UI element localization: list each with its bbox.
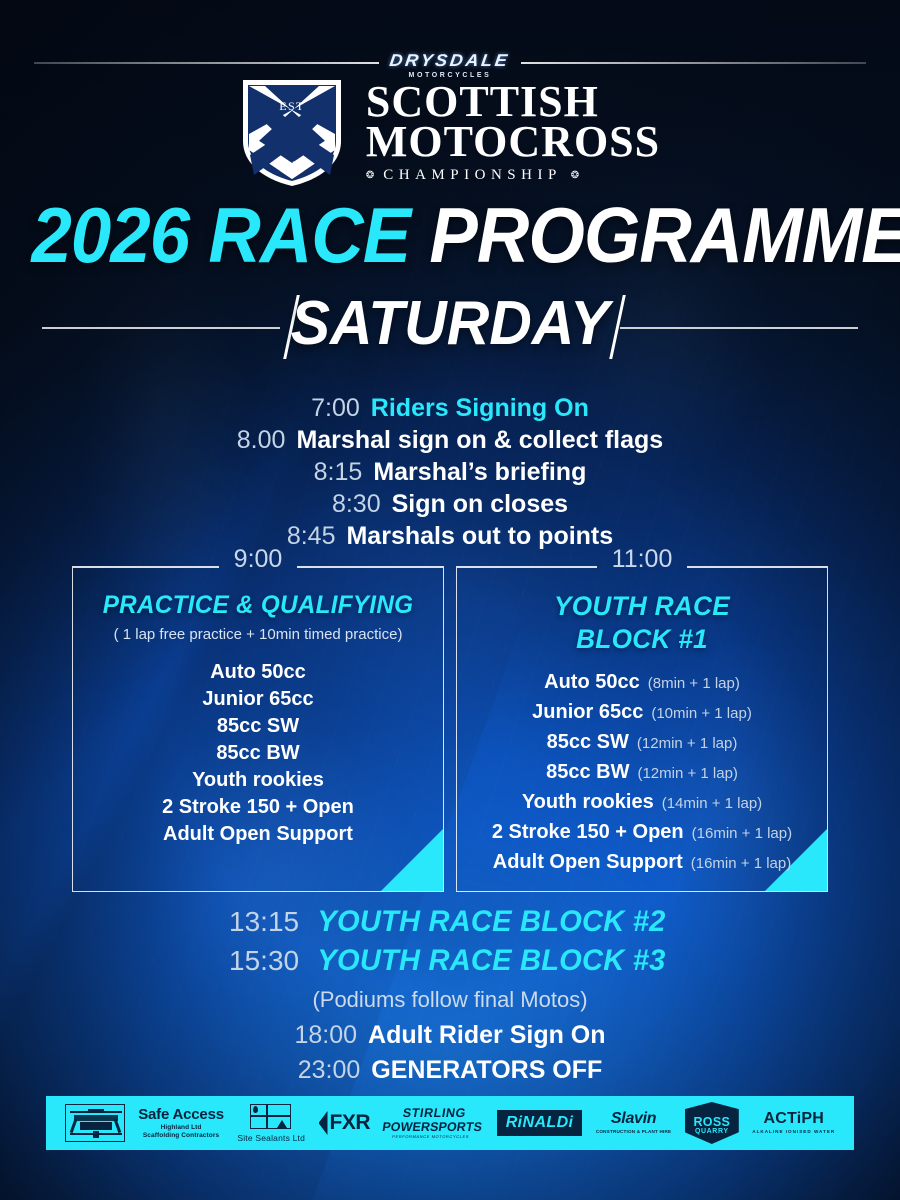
class-list-right: Auto 50cc (8min + 1 lap) Junior 65cc (10… bbox=[468, 668, 816, 878]
schedule-label: Riders Signing On bbox=[371, 392, 589, 424]
morning-schedule-list: 7:00 Riders Signing On 8.00 Marshal sign… bbox=[0, 392, 900, 552]
sponsor-rinaldi-logo: RiNALDi bbox=[497, 1110, 583, 1136]
class-name: 85cc SW bbox=[217, 713, 299, 740]
actiph-name: ACTiPH bbox=[752, 1111, 835, 1127]
header-rule-left bbox=[34, 62, 379, 64]
schedule-row: 8:15 Marshal’s briefing bbox=[0, 456, 900, 488]
class-name: Adult Open Support bbox=[163, 821, 353, 848]
practice-qualifying-panel: 9:00 PRACTICE & QUALIFYING ( 1 lap free … bbox=[72, 566, 444, 892]
sponsor-site-sealants-logo: Site Sealants Ltd bbox=[237, 1104, 305, 1143]
class-name: Youth rookies bbox=[192, 767, 324, 794]
sponsor-highland-badge-logo bbox=[65, 1104, 125, 1142]
wordmark-line-motocross: MOTOCROSS bbox=[366, 122, 660, 162]
championship-brand-lockup: EST 1955 SCOTTISH MOTOCROSS ❂ CHAMPIONSH… bbox=[0, 78, 900, 188]
evening-label: GENERATORS OFF bbox=[371, 1053, 602, 1088]
svg-text:1955: 1955 bbox=[278, 158, 305, 172]
page-title: 2026 RACE PROGRAMME bbox=[32, 196, 869, 274]
svg-text:EST: EST bbox=[279, 99, 305, 113]
sponsor-safe-access-logo: Safe Access Highland Ltd Scaffolding Con… bbox=[138, 1107, 224, 1140]
schedule-row: 8.00 Marshal sign on & collect flags bbox=[0, 424, 900, 456]
site-sealants-mark-icon bbox=[250, 1104, 292, 1130]
slavin-name: Slavin bbox=[596, 1111, 671, 1127]
stirling-line2: POWERSPORTS bbox=[382, 1121, 484, 1134]
class-row: 2 Stroke 150 + Open bbox=[84, 794, 432, 821]
class-row: Adult Open Support bbox=[84, 821, 432, 848]
afternoon-label: YOUTH RACE BLOCK #3 bbox=[317, 941, 665, 980]
wordmark-line-scottish: SCOTTISH bbox=[366, 82, 660, 122]
sponsor-fxr-logo: FXR bbox=[319, 1111, 371, 1135]
highland-badge-icon bbox=[65, 1104, 125, 1142]
schedule-time: 8:30 bbox=[332, 488, 381, 520]
schedule-time: 8:15 bbox=[314, 456, 363, 488]
class-name: 85cc SW bbox=[547, 728, 629, 756]
class-row: 85cc SW bbox=[84, 713, 432, 740]
page-title-main: PROGRAMME bbox=[429, 191, 900, 279]
diamond-ornament-left-icon: ❂ bbox=[366, 170, 374, 181]
class-name: 85cc BW bbox=[216, 740, 299, 767]
class-duration: (14min + 1 lap) bbox=[662, 790, 762, 818]
class-duration: (16min + 1 lap) bbox=[692, 820, 792, 848]
class-row: Adult Open Support (16min + 1 lap) bbox=[468, 848, 816, 878]
drysdale-motorcycles-logo: DRYSDALE MOTORCYCLES bbox=[379, 52, 520, 79]
day-banner: SATURDAY bbox=[0, 288, 900, 366]
site-sealants-name: Site Sealants Ltd bbox=[237, 1133, 305, 1143]
evening-time: 18:00 bbox=[294, 1018, 357, 1053]
sponsor-actiph-logo: ACTiPH ALKALINE IONISED WATER bbox=[752, 1111, 835, 1135]
evening-row: 23:00 GENERATORS OFF bbox=[0, 1053, 900, 1088]
drysdale-logo-main: DRYSDALE bbox=[389, 52, 511, 69]
afternoon-time: 13:15 bbox=[229, 902, 299, 941]
header-sponsor-strip: DRYSDALE MOTORCYCLES bbox=[0, 46, 900, 80]
race-block-panels: 9:00 PRACTICE & QUALIFYING ( 1 lap free … bbox=[0, 566, 900, 892]
class-name: Auto 50cc bbox=[544, 668, 640, 696]
class-row: 85cc SW (12min + 1 lap) bbox=[468, 728, 816, 758]
fxr-name: FXR bbox=[330, 1111, 371, 1135]
class-row: Auto 50cc (8min + 1 lap) bbox=[468, 668, 816, 698]
schedule-label: Marshal sign on & collect flags bbox=[296, 424, 663, 456]
class-name: 85cc BW bbox=[546, 758, 629, 786]
class-row: Junior 65cc bbox=[84, 686, 432, 713]
class-name: Junior 65cc bbox=[532, 698, 643, 726]
class-row: Auto 50cc bbox=[84, 659, 432, 686]
fxr-chevron-icon bbox=[319, 1111, 328, 1135]
day-label: SATURDAY bbox=[23, 288, 878, 360]
youth-race-block-1-panel: 11:00 YOUTH RACE BLOCK #1 Auto 50cc (8mi… bbox=[456, 566, 828, 892]
class-row: Youth rookies (14min + 1 lap) bbox=[468, 788, 816, 818]
sponsor-bar: Safe Access Highland Ltd Scaffolding Con… bbox=[46, 1096, 854, 1150]
saltire-crest-icon: EST 1955 bbox=[240, 77, 344, 189]
class-duration: (16min + 1 lap) bbox=[691, 850, 791, 878]
panel-time-right: 11:00 bbox=[596, 547, 689, 572]
class-name: Junior 65cc bbox=[202, 686, 313, 713]
panel-subtitle-left: ( 1 lap free practice + 10min timed prac… bbox=[84, 626, 432, 644]
panel-heading-right-line1: YOUTH RACE bbox=[473, 590, 811, 623]
class-name: Auto 50cc bbox=[210, 659, 306, 686]
slavin-line2: CONSTRUCTION & PLANT HIRE bbox=[596, 1130, 671, 1135]
afternoon-time: 15:30 bbox=[229, 941, 299, 980]
panel-content-left: PRACTICE & QUALIFYING ( 1 lap free pract… bbox=[72, 566, 444, 892]
safe-access-line2: Highland Ltd bbox=[138, 1125, 224, 1132]
page-title-accent: 2026 RACE bbox=[32, 191, 411, 279]
schedule-time: 7:00 bbox=[311, 392, 360, 424]
class-duration: (12min + 1 lap) bbox=[637, 760, 737, 788]
sponsor-ross-quarry-logo: ROSS QUARRY bbox=[685, 1102, 739, 1144]
race-programme-poster: DRYSDALE MOTORCYCLES bbox=[0, 0, 900, 1200]
afternoon-schedule-list: 13:15 YOUTH RACE BLOCK #2 15:30 YOUTH RA… bbox=[0, 902, 900, 1088]
actiph-line2: ALKALINE IONISED WATER bbox=[752, 1130, 835, 1135]
class-row: Junior 65cc (10min + 1 lap) bbox=[468, 698, 816, 728]
schedule-row: 7:00 Riders Signing On bbox=[0, 392, 900, 424]
stirling-line1: STIRLING bbox=[384, 1107, 486, 1120]
diamond-ornament-right-icon: ❂ bbox=[571, 170, 579, 181]
evening-label: Adult Rider Sign On bbox=[368, 1018, 606, 1053]
panel-time-left: 9:00 bbox=[218, 547, 299, 572]
ross-quarry-line1: ROSS bbox=[685, 1115, 739, 1129]
rinaldi-name: RiNALDi bbox=[497, 1110, 583, 1136]
safe-access-line3: Scaffolding Contractors bbox=[138, 1133, 224, 1140]
schedule-time: 8.00 bbox=[237, 424, 286, 456]
schedule-label: Sign on closes bbox=[392, 488, 568, 520]
class-name: 2 Stroke 150 + Open bbox=[162, 794, 354, 821]
class-row: Youth rookies bbox=[84, 767, 432, 794]
panel-heading-left: PRACTICE & QUALIFYING bbox=[89, 590, 427, 621]
class-duration: (10min + 1 lap) bbox=[651, 700, 751, 728]
stirling-line3: PERFORMANCE MOTORCYCLES bbox=[381, 1135, 481, 1139]
sponsor-slavin-logo: Slavin CONSTRUCTION & PLANT HIRE bbox=[596, 1111, 671, 1135]
afternoon-row: 13:15 YOUTH RACE BLOCK #2 bbox=[0, 902, 900, 941]
ross-quarry-line2: QUARRY bbox=[685, 1128, 739, 1135]
evening-time: 23:00 bbox=[298, 1053, 361, 1088]
schedule-row: 8:30 Sign on closes bbox=[0, 488, 900, 520]
safe-access-name: Safe Access bbox=[138, 1107, 224, 1122]
afternoon-label: YOUTH RACE BLOCK #2 bbox=[317, 902, 665, 941]
class-name: 2 Stroke 150 + Open bbox=[492, 818, 684, 846]
class-row: 85cc BW (12min + 1 lap) bbox=[468, 758, 816, 788]
class-row: 2 Stroke 150 + Open (16min + 1 lap) bbox=[468, 818, 816, 848]
schedule-label: Marshal’s briefing bbox=[373, 456, 586, 488]
podium-note: (Podiums follow final Motos) bbox=[0, 982, 900, 1018]
class-name: Adult Open Support bbox=[493, 848, 683, 876]
class-name: Youth rookies bbox=[522, 788, 654, 816]
championship-text: CHAMPIONSHIP bbox=[383, 167, 562, 184]
class-duration: (8min + 1 lap) bbox=[648, 670, 740, 698]
sponsor-stirling-powersports-logo: STIRLING POWERSPORTS PERFORMANCE MOTORCY… bbox=[383, 1107, 483, 1139]
afternoon-row: 15:30 YOUTH RACE BLOCK #3 bbox=[0, 941, 900, 980]
class-duration: (12min + 1 lap) bbox=[637, 730, 737, 758]
evening-row: 18:00 Adult Rider Sign On bbox=[0, 1018, 900, 1053]
panel-content-right: YOUTH RACE BLOCK #1 Auto 50cc (8min + 1 … bbox=[456, 566, 828, 892]
championship-wordmark: SCOTTISH MOTOCROSS ❂ CHAMPIONSHIP ❂ bbox=[366, 82, 660, 185]
class-row: 85cc BW bbox=[84, 740, 432, 767]
class-list-left: Auto 50cc Junior 65cc 85cc SW 85cc BW Yo bbox=[84, 659, 432, 848]
schedule-label: Marshals out to points bbox=[346, 520, 613, 552]
panel-heading-right-line2: BLOCK #1 bbox=[473, 623, 811, 656]
wordmark-line-championship: ❂ CHAMPIONSHIP ❂ bbox=[366, 167, 660, 184]
header-rule-right bbox=[521, 62, 866, 64]
schedule-row: 8:45 Marshals out to points bbox=[0, 520, 900, 552]
